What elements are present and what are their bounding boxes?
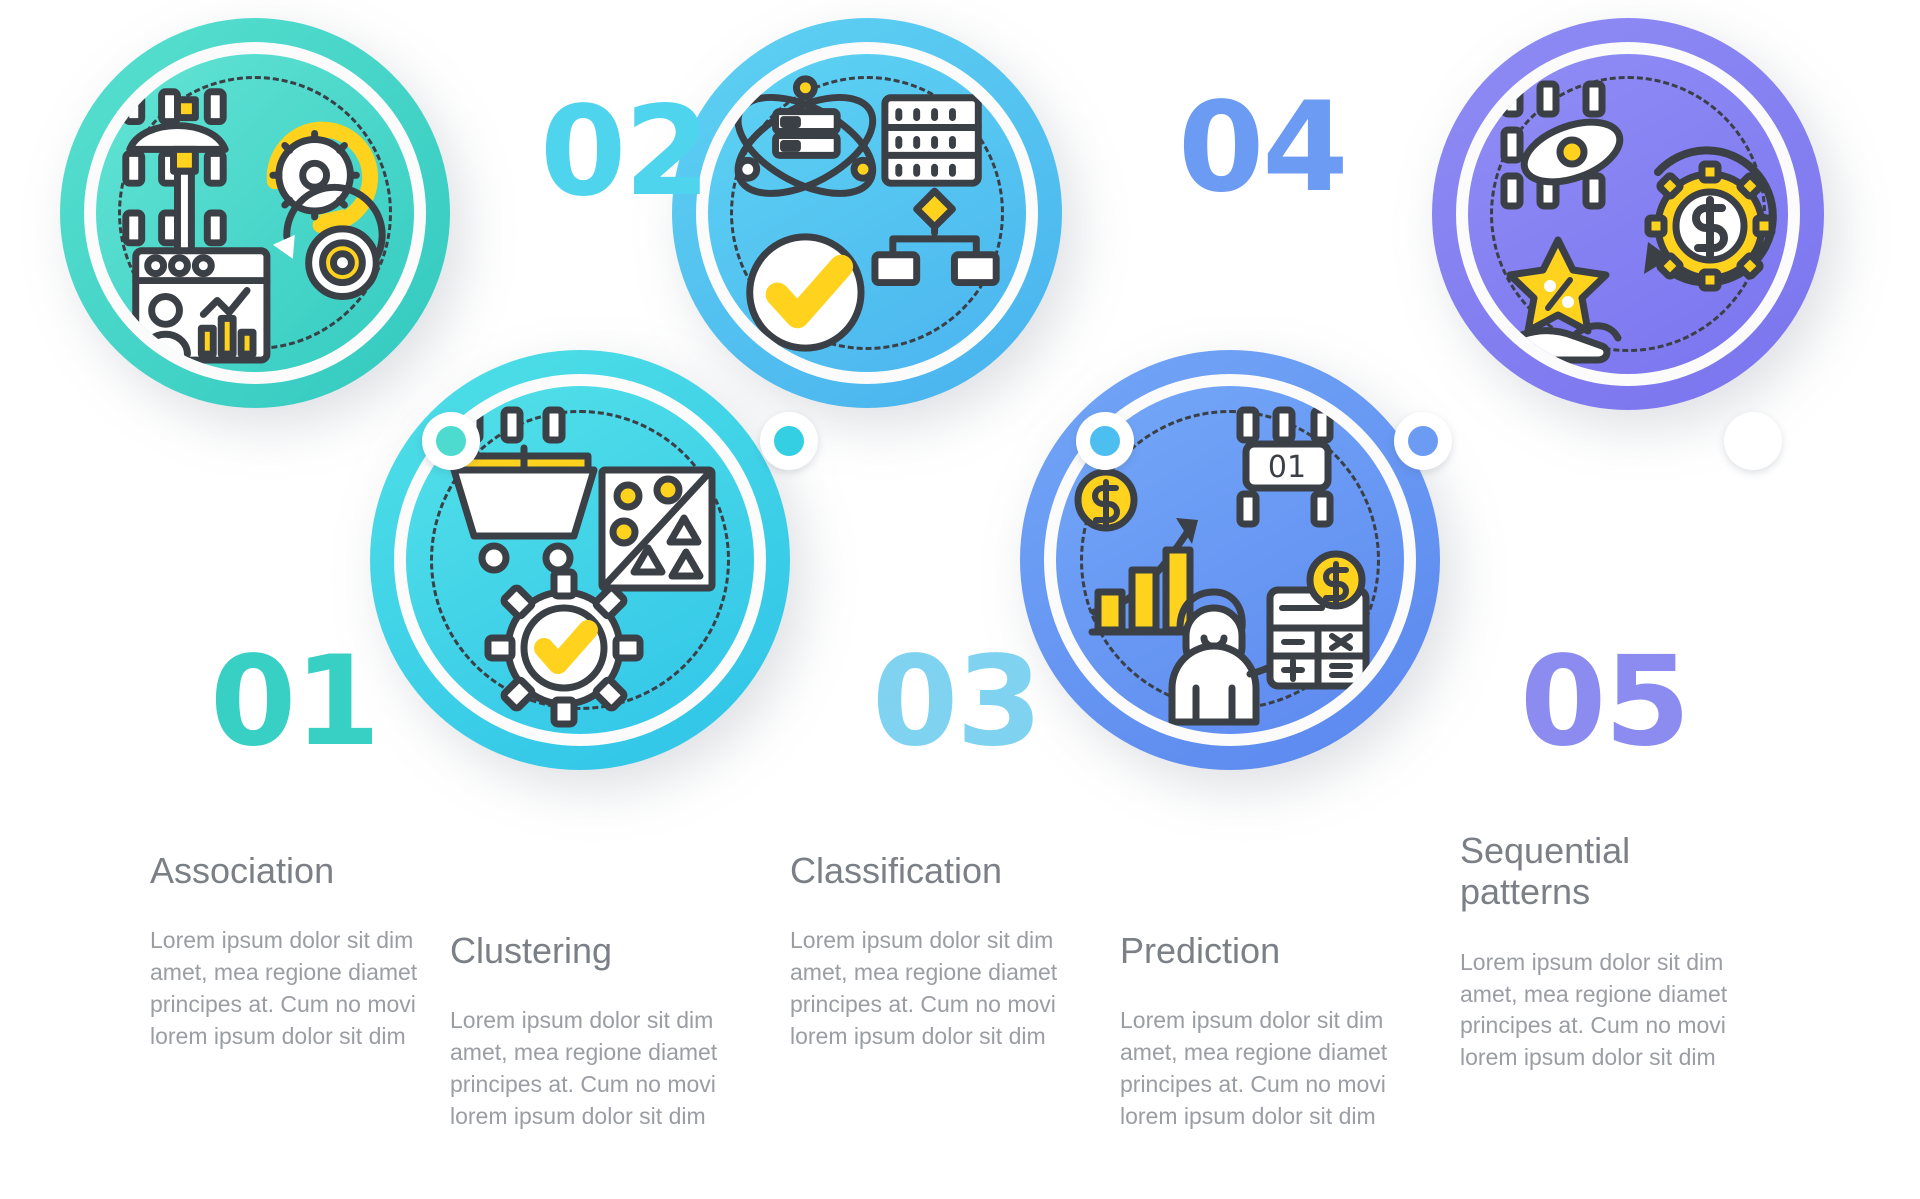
step-circle-prediction[interactable]: 01 [1020, 350, 1440, 770]
sequential-rocket-icon [1468, 54, 1788, 374]
step-number-01: 01 [210, 640, 379, 764]
infographic-canvas: 02 [0, 0, 1920, 1199]
connector-dot [1408, 426, 1438, 456]
icon-art-association [96, 54, 414, 372]
step-number-04: 04 [1178, 86, 1347, 210]
step-circle-sequential[interactable] [1432, 18, 1824, 410]
svg-text:01: 01 [1268, 450, 1306, 485]
step-circle-clustering[interactable] [370, 350, 790, 770]
step-title-clustering: Clustering [450, 930, 762, 971]
step-body-classification: Lorem ipsum dolor sit dim amet, mea regi… [790, 925, 1110, 1052]
step-body-association: Lorem ipsum dolor sit dim amet, mea regi… [150, 925, 460, 1052]
step-body-prediction: Lorem ipsum dolor sit dim amet, mea regi… [1120, 1005, 1432, 1132]
connector-knob-5 [1724, 412, 1782, 470]
connector-dot [774, 426, 804, 456]
step-body-sequential: Lorem ipsum dolor sit dim amet, mea regi… [1460, 947, 1790, 1074]
step-circle-association[interactable] [60, 18, 450, 408]
step-circle-classification[interactable] [672, 18, 1062, 408]
step-title-sequential: Sequential patterns [1460, 830, 1790, 913]
text-column-association: Association Lorem ipsum dolor sit dim am… [150, 850, 460, 1052]
connector-dot [1738, 426, 1768, 456]
connector-dot [436, 426, 466, 456]
data-mining-icon [96, 54, 414, 372]
text-column-classification: Classification Lorem ipsum dolor sit dim… [790, 850, 1110, 1052]
step-number-05: 05 [1520, 640, 1689, 764]
step-title-prediction: Prediction [1120, 930, 1432, 971]
text-column-sequential: Sequential patterns Lorem ipsum dolor si… [1460, 830, 1790, 1074]
icon-art-classification [708, 54, 1026, 372]
classification-check-icon [708, 54, 1026, 372]
connector-knob-3 [1076, 412, 1134, 470]
connector-knob-1 [422, 412, 480, 470]
step-title-association: Association [150, 850, 460, 891]
step-title-classification: Classification [790, 850, 1110, 891]
icon-art-sequential [1468, 54, 1788, 374]
connector-knob-4 [1394, 412, 1452, 470]
text-column-prediction: Prediction Lorem ipsum dolor sit dim ame… [1120, 930, 1432, 1132]
text-column-clustering: Clustering Lorem ipsum dolor sit dim ame… [450, 930, 762, 1132]
step-body-clustering: Lorem ipsum dolor sit dim amet, mea regi… [450, 1005, 762, 1132]
step-number-03: 03 [872, 640, 1041, 764]
connector-dot [1090, 426, 1120, 456]
step-number-02: 02 [540, 90, 709, 214]
connector-knob-2 [760, 412, 818, 470]
